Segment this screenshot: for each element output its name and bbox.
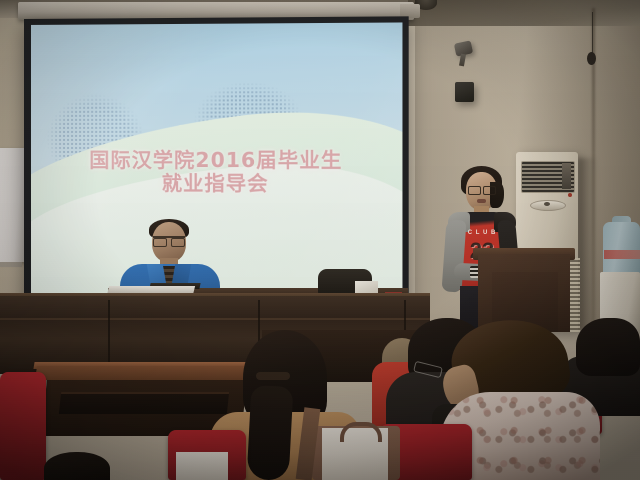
- ceiling-right-section: [408, 0, 640, 26]
- audience-member-hair: [576, 318, 640, 376]
- red-seat: [0, 372, 46, 480]
- hanging-cable: [592, 12, 593, 54]
- hanging-cable-end: [587, 52, 596, 65]
- water-bottle: [603, 222, 640, 276]
- glasses-icon: [468, 186, 496, 193]
- paper-on-seat: [176, 452, 228, 480]
- ac-power-dot-icon: [568, 193, 572, 197]
- stage-panel-seam: [108, 300, 110, 370]
- ponytail: [247, 385, 294, 480]
- slide-title-line-1: 国际汉学院2016届毕业生: [89, 148, 342, 172]
- audience-desk-shelf: [59, 392, 229, 414]
- ac-led-icon: [544, 202, 550, 206]
- hair-tie-icon: [256, 372, 290, 380]
- audience-member-hair: [44, 452, 110, 480]
- slide-title-line-2: 就业指导会: [31, 172, 402, 196]
- audience-desk: [35, 366, 253, 380]
- bag-handle: [340, 422, 382, 442]
- speaker-mouth: [477, 199, 486, 203]
- glasses-icon: [153, 236, 185, 245]
- ac-grille-side: [562, 163, 571, 189]
- whiteboard: [0, 148, 26, 262]
- wall-speaker-icon: [455, 82, 474, 102]
- whiteboard-tray: [0, 262, 22, 267]
- water-bottle-label: [604, 250, 640, 259]
- slide-title: 国际汉学院2016届毕业生 就业指导会: [31, 148, 402, 196]
- sweatshirt-graphic-text: C L U B: [458, 230, 506, 236]
- stage-panel-line: [0, 318, 430, 320]
- lecture-hall-photo: 国际汉学院2016届毕业生 就业指导会: [0, 0, 640, 480]
- ac-unit-shadow: [578, 158, 598, 330]
